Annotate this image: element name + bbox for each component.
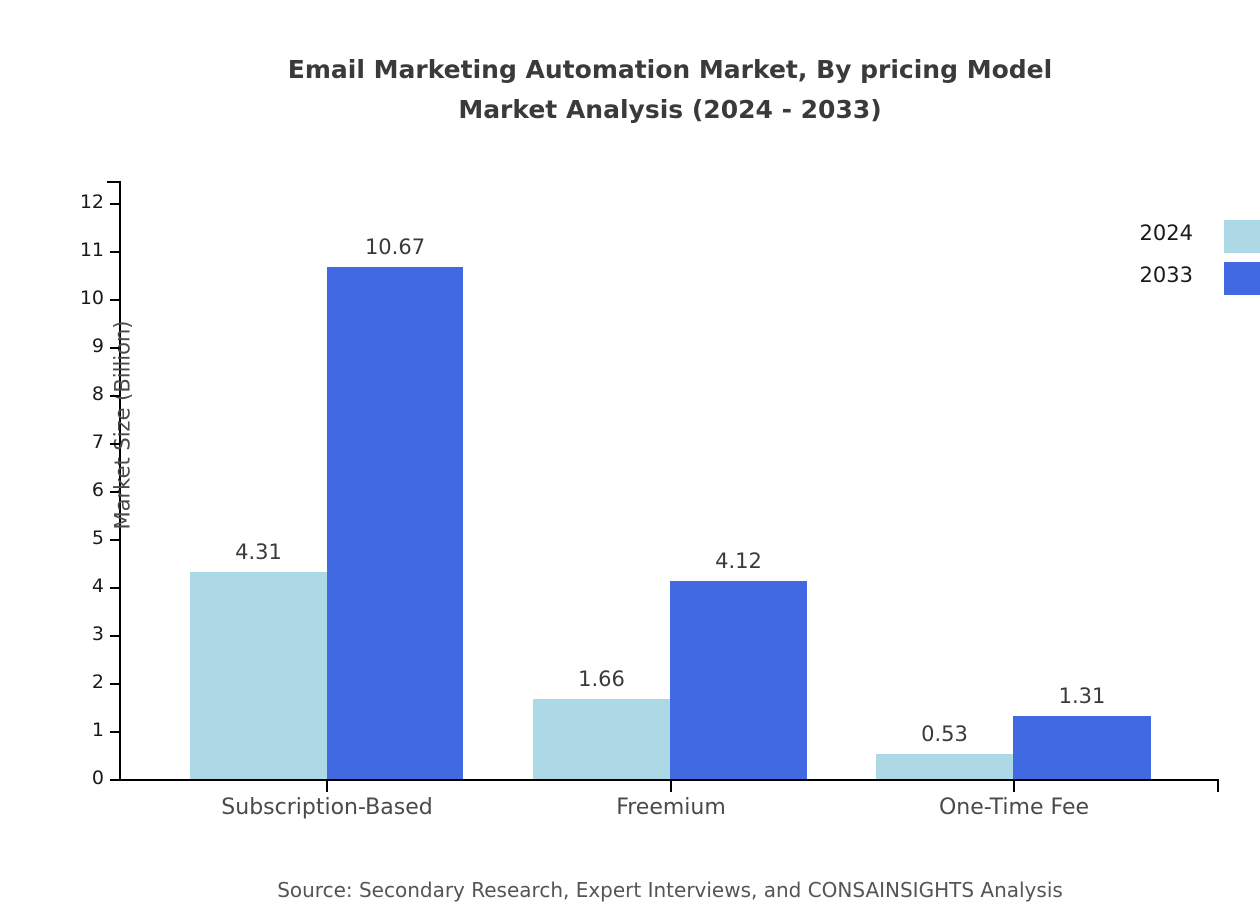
x-tick-label-freemium: Freemium — [616, 795, 726, 820]
y-tick-label-2: 2 — [92, 671, 104, 693]
bar-label-2024-one-time-fee: 0.53 — [921, 722, 968, 746]
y-tick-label-11: 11 — [80, 239, 104, 261]
y-tick-8: 8 — [110, 395, 119, 397]
bar-label-2024-freemium: 1.66 — [578, 667, 625, 691]
y-tick-label-10: 10 — [80, 287, 104, 309]
chart-title: Email Marketing Automation Market, By pr… — [0, 50, 1260, 130]
x-tick-freemium — [670, 781, 672, 792]
bar-2024-freemium[interactable]: 1.66 — [533, 699, 670, 779]
y-tick-label-8: 8 — [92, 383, 104, 405]
bar-label-2033-subscription-based: 10.67 — [365, 235, 425, 259]
y-tick-label-3: 3 — [92, 623, 104, 645]
y-tick-9: 9 — [110, 347, 119, 349]
chart-title-line-1: Email Marketing Automation Market, By pr… — [0, 50, 1260, 90]
y-tick-0: 0 — [110, 779, 119, 781]
legend-item-2033[interactable]: 2033 — [1224, 262, 1260, 304]
y-tick-5: 5 — [110, 539, 119, 541]
y-tick-label-6: 6 — [92, 479, 104, 501]
legend-item-2024[interactable]: 2024 — [1224, 220, 1260, 262]
source-note: Source: Secondary Research, Expert Inter… — [0, 878, 1260, 902]
y-tick-label-4: 4 — [92, 575, 104, 597]
y-tick-2: 2 — [110, 683, 119, 685]
bar-2024-subscription-based[interactable]: 4.31 — [190, 572, 327, 779]
chart-figure: Email Marketing Automation Market, By pr… — [0, 0, 1260, 920]
bar-2033-one-time-fee[interactable]: 1.31 — [1013, 716, 1151, 779]
y-tick-label-7: 7 — [92, 431, 104, 453]
x-tick-label-subscription-based: Subscription-Based — [221, 795, 432, 820]
y-tick-4: 4 — [110, 587, 119, 589]
legend-swatch-2033 — [1224, 262, 1260, 295]
y-tick-3: 3 — [110, 635, 119, 637]
legend-label-2024: 2024 — [1140, 221, 1193, 245]
y-tick-7: 7 — [110, 443, 119, 445]
plot-area: Market Size (Billion) 0 1 2 3 4 5 6 7 8 — [119, 181, 1219, 781]
y-tick-label-12: 12 — [80, 191, 104, 213]
y-tick-6: 6 — [110, 491, 119, 493]
x-tick-label-one-time-fee: One-Time Fee — [939, 795, 1089, 820]
bar-label-2033-freemium: 4.12 — [715, 549, 762, 573]
y-tick-label-0: 0 — [92, 767, 104, 789]
x-tick-subscription-based — [326, 781, 328, 792]
legend-label-2033: 2033 — [1140, 263, 1193, 287]
y-tick-label-9: 9 — [92, 335, 104, 357]
y-tick-12: 12 — [110, 203, 119, 205]
chart-legend: 2024 2033 — [1224, 220, 1260, 304]
bar-label-2033-one-time-fee: 1.31 — [1059, 684, 1106, 708]
y-tick-11: 11 — [110, 251, 119, 253]
x-axis-spine — [119, 779, 1219, 781]
legend-swatch-2024 — [1224, 220, 1260, 253]
y-tick-label-1: 1 — [92, 719, 104, 741]
bar-2033-freemium[interactable]: 4.12 — [670, 581, 807, 779]
bar-2033-subscription-based[interactable]: 10.67 — [327, 267, 463, 779]
chart-title-line-2: Market Analysis (2024 - 2033) — [0, 90, 1260, 130]
x-tick-one-time-fee — [1013, 781, 1015, 792]
y-tick-label-5: 5 — [92, 527, 104, 549]
y-tick-10: 10 — [110, 299, 119, 301]
y-tick-1: 1 — [110, 731, 119, 733]
bar-label-2024-subscription-based: 4.31 — [235, 540, 282, 564]
bar-2024-one-time-fee[interactable]: 0.53 — [876, 754, 1013, 779]
y-axis-title: Market Size (Billion) — [110, 321, 134, 530]
